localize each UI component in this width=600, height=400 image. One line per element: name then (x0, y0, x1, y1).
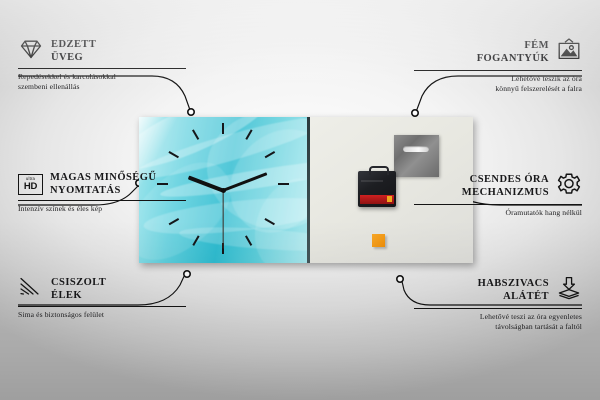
connector-dot-tempered-glass (188, 109, 194, 115)
feature-title: MAGAS MINŐSÉGŰ NYOMTATÁS (50, 172, 156, 197)
feature-title: HABSZIVACS ALÁTÉT (478, 278, 549, 303)
diamond-icon (18, 38, 44, 65)
mechanism-handle (369, 166, 389, 175)
mechanism-battery-label (360, 195, 394, 204)
feature-title: FÉM FOGANTYÚK (477, 40, 549, 65)
feature-high-quality-print: ultra HD MAGAS MINŐSÉGŰ NYOMTATÁS Intenz… (18, 172, 186, 214)
feature-description: Óramutatók hang nélkül (414, 208, 582, 218)
feature-silent-mechanism: CSENDES ÓRA MECHANIZMUS Óramutatók hang … (414, 172, 582, 218)
feature-title-line2: ÉLEK (51, 290, 106, 303)
feature-title-line1: EDZETT (51, 39, 96, 52)
hanger-slot (403, 146, 429, 152)
divider (414, 70, 582, 71)
feature-title-line1: HABSZIVACS (478, 278, 549, 291)
feature-title-line2: FOGANTYÚK (477, 53, 549, 66)
picture-hanger-icon (556, 38, 582, 67)
divider (18, 200, 186, 201)
divider (18, 68, 186, 69)
feature-title: CSENDES ÓRA MECHANIZMUS (462, 174, 549, 199)
feature-description: Repedésekkel és karcolásokkal szembeni e… (18, 72, 186, 92)
mechanism-seam (361, 180, 383, 182)
feature-title-line1: MAGAS MINŐSÉGŰ (50, 172, 156, 185)
connector-dot-foam-pad (397, 276, 403, 282)
metal-hanger-plate (394, 135, 439, 177)
clock-center-cap (221, 188, 226, 193)
feature-description: Lehetővé teszi az óra egyenletes távolsá… (414, 312, 582, 332)
feature-title: EDZETT ÜVEG (51, 39, 96, 64)
feature-title-line1: FÉM (477, 40, 549, 53)
feature-description: Intenzív színek és éles kép (18, 204, 186, 214)
feature-metal-handles: FÉM FOGANTYÚK Lehetővé teszik az óra kön… (414, 38, 582, 94)
ultra-hd-icon-main: HD (24, 182, 37, 192)
ultra-hd-icon: ultra HD (18, 174, 43, 195)
feature-title-line2: ALÁTÉT (478, 291, 549, 304)
feature-tempered-glass: EDZETT ÜVEG Repedésekkel és karcolásokka… (18, 38, 186, 92)
divider (414, 204, 582, 205)
feature-title-line1: CSENDES ÓRA (462, 174, 549, 187)
connector-dot-metal-handles (412, 110, 418, 116)
infographic-canvas: EDZETT ÜVEG Repedésekkel és karcolásokka… (0, 0, 600, 400)
feature-description: Lehetővé teszik az óra könnyű felszerelé… (414, 74, 582, 94)
feature-title-line2: MECHANIZMUS (462, 187, 549, 200)
clock-second-hand (222, 190, 223, 248)
clock-marker (222, 123, 224, 134)
foam-pad-icon (556, 276, 582, 305)
foam-pad (372, 234, 385, 247)
feature-title-line2: NYOMTATÁS (50, 185, 156, 198)
gear-icon (556, 172, 582, 201)
feature-title: CSISZOLT ÉLEK (51, 277, 106, 302)
clock-marker (278, 183, 289, 185)
feature-title-line2: ÜVEG (51, 52, 96, 65)
divider (18, 306, 186, 307)
polished-edge-icon (18, 276, 44, 303)
feature-title-line1: CSISZOLT (51, 277, 106, 290)
clock-mechanism (358, 171, 396, 207)
divider (414, 308, 582, 309)
feature-foam-pad: HABSZIVACS ALÁTÉT Lehetővé teszi az óra … (414, 276, 582, 332)
feature-polished-edges: CSISZOLT ÉLEK Sima és biztonságos felüle… (18, 276, 186, 320)
feature-description: Sima és biztonságos felület (18, 310, 186, 320)
